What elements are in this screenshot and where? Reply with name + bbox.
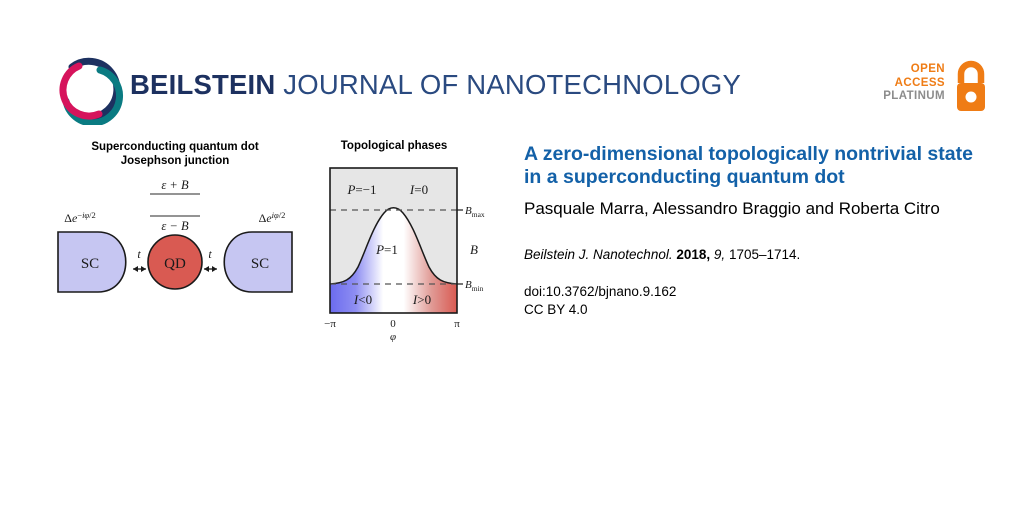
annotation-i-less-than-0: I<0 — [353, 292, 372, 307]
right-coupling-arrow — [204, 266, 217, 272]
citation-volume: 9, — [714, 247, 725, 262]
right-coupling-label: t — [208, 247, 212, 261]
annotation-p-minus-1: P=−1 — [346, 182, 376, 197]
junction-title-line2: Josephson junction — [40, 154, 310, 168]
junction-title-line1: Superconducting quantum dot — [40, 140, 310, 154]
quantum-dot-label: QD — [164, 256, 186, 272]
wordmark-beilstein: BEILSTEIN — [130, 69, 275, 100]
open-access-text: OPEN ACCESS PLATINUM — [883, 63, 945, 104]
x-axis-label: φ — [390, 331, 396, 342]
annotation-i-greater-than-0: I>0 — [412, 292, 431, 307]
left-coupling-label: t — [137, 247, 141, 261]
ytick-label-bmin: Bmin — [465, 279, 484, 293]
topological-phase-chart: P=−1 I=0 P=1 I<0 I>0 Bmax Bmin B −π 0 π … — [318, 162, 498, 342]
masthead: BEILSTEIN JOURNAL OF NANOTECHNOLOGY OPEN… — [0, 0, 1024, 132]
right-phase-label: Δeiφ/2 — [259, 210, 286, 225]
article-authors: Pasquale Marra, Alessandro Braggio and R… — [524, 198, 990, 220]
journal-wordmark: BEILSTEIN JOURNAL OF NANOTECHNOLOGY — [130, 71, 741, 99]
citation-journal: Beilstein J. Nanotechnol. — [524, 247, 673, 262]
article-citation: Beilstein J. Nanotechnol. 2018, 9, 1705–… — [524, 246, 990, 263]
xtick-label-minus-pi: −π — [324, 318, 336, 330]
citation-year: 2018, — [676, 247, 710, 262]
article-license[interactable]: CC BY 4.0 — [524, 301, 990, 319]
oa-line-open: OPEN — [883, 63, 945, 77]
open-lock-icon — [949, 60, 989, 118]
phases-chart-title: Topological phases — [318, 140, 470, 152]
article-title: A zero-dimensional topologically nontriv… — [524, 143, 990, 189]
y-axis-label: B — [470, 242, 478, 257]
open-access-badge: OPEN ACCESS PLATINUM — [884, 58, 989, 124]
article-doi[interactable]: doi:10.3762/bjnano.9.162 — [524, 283, 990, 301]
right-sc-label: SC — [251, 256, 269, 272]
junction-diagram: SC SC QD ε + B ε − B t t Δe−iφ/2 — [40, 174, 310, 294]
citation-pages: 1705–1714. — [729, 247, 800, 262]
left-phase-label: Δe−iφ/2 — [64, 210, 96, 225]
oa-line-access: ACCESS — [883, 77, 945, 91]
annotation-p-equals-1: P=1 — [375, 242, 398, 257]
junction-figure-title: Superconducting quantum dot Josephson ju… — [40, 140, 310, 168]
left-coupling-arrow — [133, 266, 146, 272]
ytick-label-bmax: Bmax — [465, 205, 485, 219]
beilstein-spiral-logo — [52, 57, 126, 125]
left-sc-label: SC — [81, 256, 99, 272]
xtick-label-pi: π — [454, 318, 460, 330]
energy-level-upper-label: ε + B — [161, 178, 189, 192]
figure-topological-phases: Topological phases — [318, 140, 498, 340]
xtick-label-zero: 0 — [390, 318, 396, 330]
wordmark-journal-of-nanotechnology: JOURNAL OF NANOTECHNOLOGY — [275, 69, 741, 100]
annotation-i-equals-0: I=0 — [409, 182, 428, 197]
oa-line-platinum: PLATINUM — [883, 90, 945, 104]
figure-josephson-junction: Superconducting quantum dot Josephson ju… — [40, 140, 310, 300]
energy-level-lower-label: ε − B — [161, 219, 189, 233]
article-info-panel: A zero-dimensional topologically nontriv… — [524, 143, 990, 319]
